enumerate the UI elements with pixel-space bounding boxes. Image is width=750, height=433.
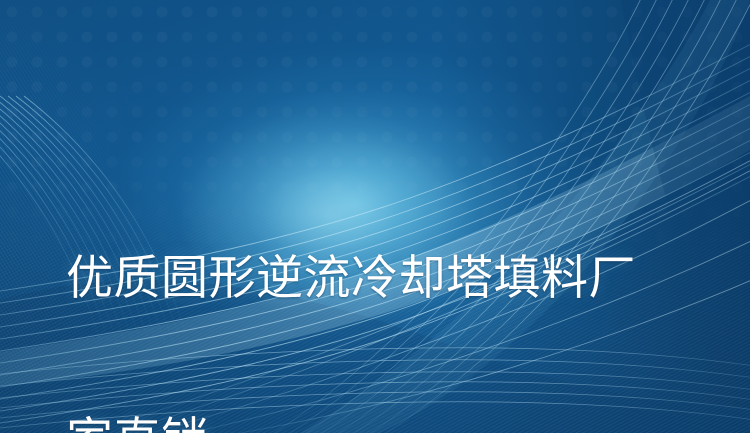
banner-headline: 优质圆形逆流冷却塔填料厂 家直销 <box>66 144 706 433</box>
promo-banner: 优质圆形逆流冷却塔填料厂 家直销 <box>0 0 750 433</box>
headline-line-1: 优质圆形逆流冷却塔填料厂 <box>66 252 706 306</box>
headline-line-2: 家直销 <box>66 414 706 433</box>
